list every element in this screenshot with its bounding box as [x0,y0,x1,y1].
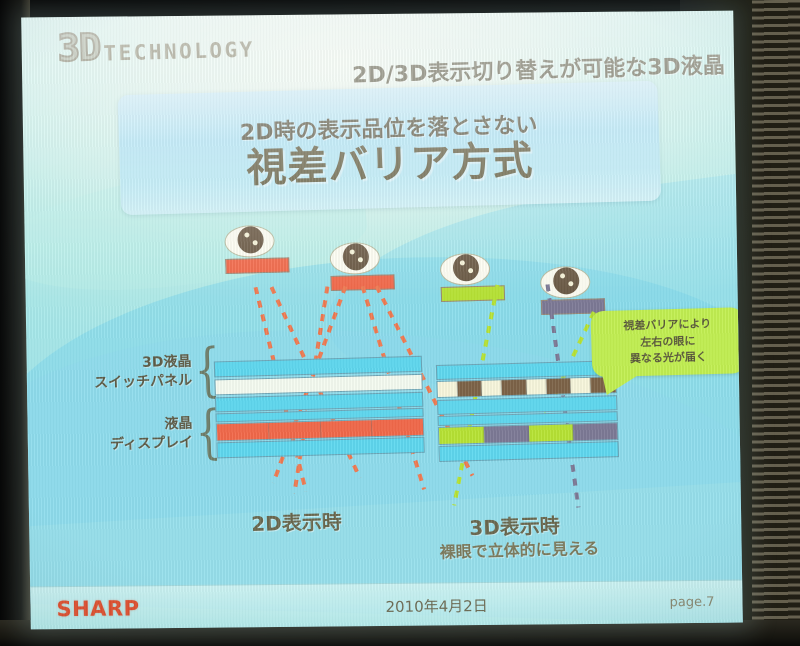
barrier-slit [571,378,591,394]
layer-3d-barrier [436,376,616,398]
viewer-eye-2 [329,241,395,291]
slide-footer: SHARP 2010年4月2日 page.7 [30,580,743,630]
window-blinds [752,0,800,641]
label-switch-panel-line2: スイッチパネル [47,371,193,394]
eye-highlight-2 [568,281,573,286]
panel-stack-2d [214,356,425,459]
eye-highlight-1 [350,249,355,254]
footer-date: 2010年4月2日 [385,595,488,617]
title-main: 視差バリア方式 [246,140,534,190]
eye-icon [224,225,273,256]
screenshot-root: 3D TECHNOLOGY 2D/3D表示切り替えが可能な3D液晶 2D時の表示… [0,0,800,646]
logo-3d-text: 3D [57,26,101,70]
pixel-cell [269,422,321,439]
caption-2d: 2D表示時 [251,506,342,537]
sharp-logo: SHARP [56,596,139,621]
barrier-bar [457,381,482,397]
pixel-cell [439,427,484,444]
eye-highlight-1 [460,260,465,265]
pixel-cell [320,420,372,437]
eye-highlight-2 [253,240,258,245]
eye-highlight-1 [244,232,249,237]
barrier-slit [437,381,457,397]
pixel-cell [484,426,529,443]
eye-highlight-1 [560,273,565,278]
barrier-slit [482,380,502,396]
title-box: 2D時の表示品位を落とさない 視差バリア方式 [117,81,661,216]
barrier-bar [546,378,571,394]
projected-slide: 3D TECHNOLOGY 2D/3D表示切り替えが可能な3D液晶 2D時の表示… [21,11,743,630]
barrier-bar [501,380,526,396]
pixel-cell [372,419,423,436]
eye-color-bar [225,257,289,274]
caption-3d-sub: 裸眼で立体的に見える [439,535,599,563]
label-switch-panel: 3D液晶 スイッチパネル [46,353,192,395]
eye-icon [440,253,489,284]
label-lcd-line2: ディスプレイ [48,433,194,456]
pixel-cell [573,423,617,440]
viewer-eye-1 [224,224,290,274]
callout-bubble: 視差バリアにより 左右の眼に 異なる光が届く [590,307,742,377]
pixel-cell [217,423,269,440]
pixel-cell [528,424,573,441]
3d-technology-logo: 3D TECHNOLOGY [57,22,255,70]
callout-line-3: 異なる光が届く [601,348,736,368]
label-lcd-display: 液晶 ディスプレイ [47,415,193,457]
eye-highlight-2 [358,257,363,262]
page-number: page.7 [669,595,714,610]
eye-icon [329,242,378,273]
eye-highlight-2 [468,268,473,273]
barrier-slit [526,379,546,395]
panel-stack-3d [436,360,619,462]
logo-technology-text: TECHNOLOGY [103,37,255,68]
